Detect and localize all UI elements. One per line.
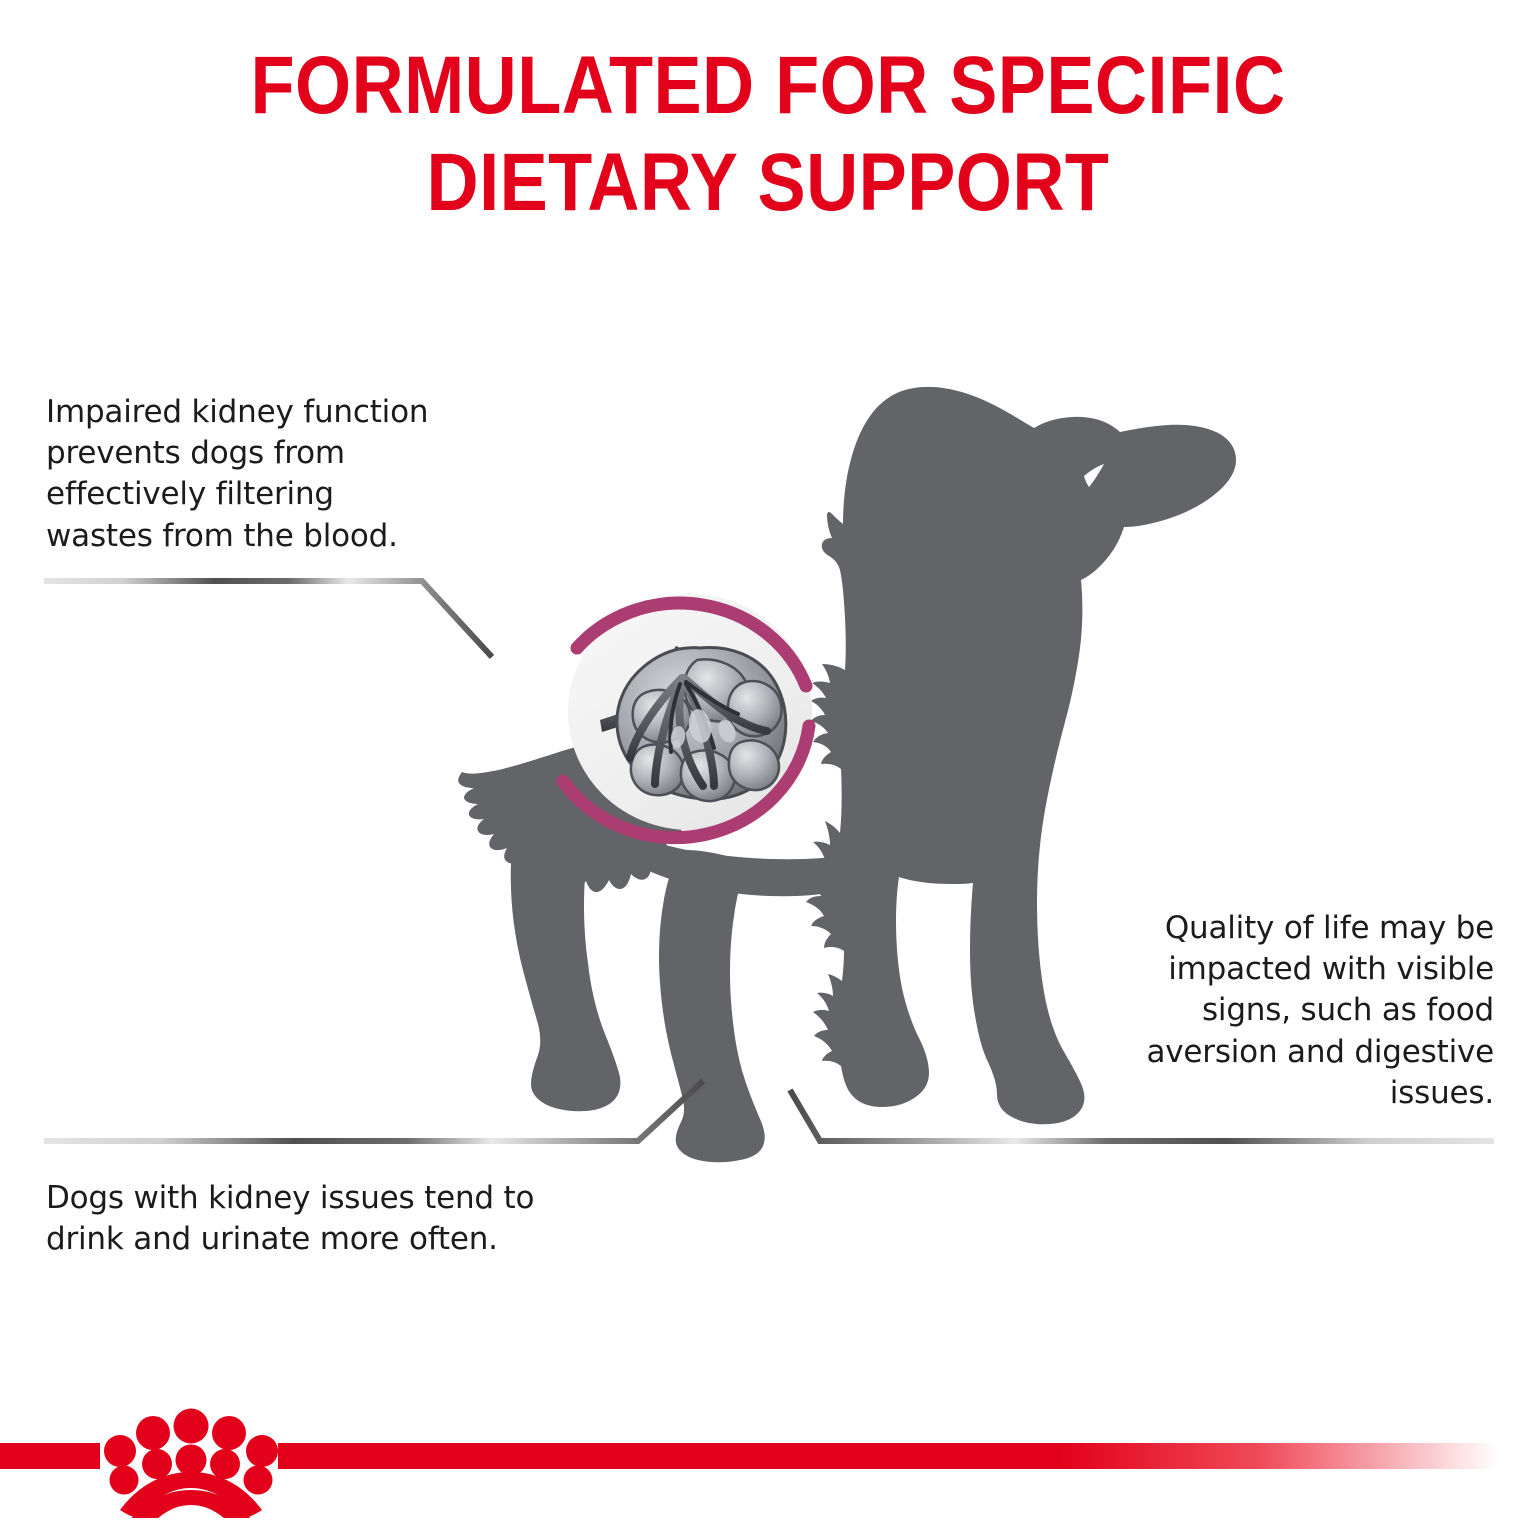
royal-canin-crown-logo [96,1398,286,1518]
footer-bar-left-segment [0,1443,100,1469]
callout-text-kidney-function: Impaired kidney function prevents dogs f… [46,392,566,557]
callout-text-drink-urinate: Dogs with kidney issues tend to drink an… [46,1178,686,1260]
illustration-layer [0,0,1536,1536]
callout-text-quality-of-life: Quality of life may be impacted with vis… [1024,908,1494,1114]
leader-line-kidney-function [44,581,492,657]
infographic-root: FORMULATED FOR SPECIFIC DIETARY SUPPORT [0,0,1536,1536]
footer-bar-right-segment [278,1443,1536,1469]
